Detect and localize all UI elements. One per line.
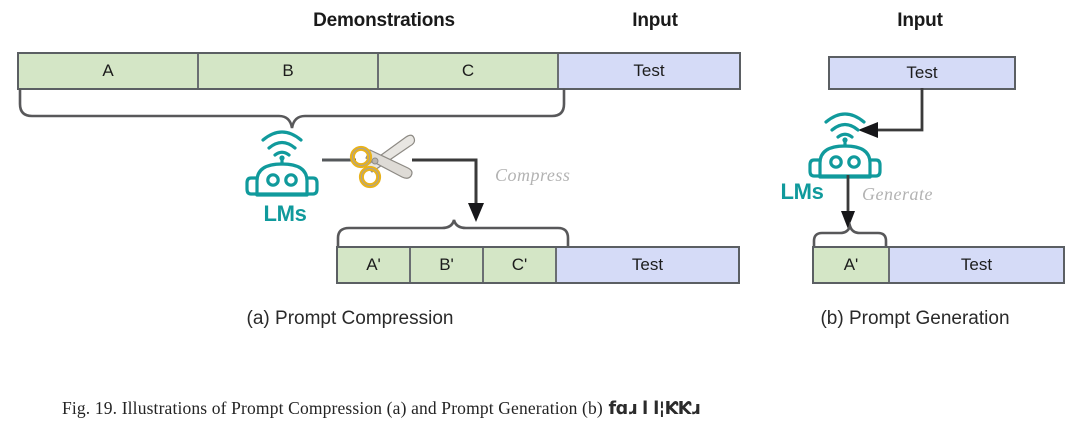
panel-a-output-cell-c: C' bbox=[484, 248, 557, 282]
panel-b-subcaption: (b) Prompt Generation bbox=[770, 308, 1060, 330]
panel-b-generate-arrow bbox=[838, 175, 858, 233]
panel-a-demo-cell-b: B bbox=[199, 54, 379, 88]
panel-a-output-sequence: A' B' C' Test bbox=[336, 246, 740, 284]
panel-a-subcaption: (a) Prompt Compression bbox=[180, 308, 520, 330]
panel-b-lms-label: LMs bbox=[770, 179, 834, 205]
panel-b-output-cell-a: A' bbox=[814, 248, 890, 282]
panel-a-output-cell-test: Test bbox=[557, 248, 738, 282]
figure-caption: Fig. 19. Illustrations of Prompt Compres… bbox=[62, 398, 1042, 419]
panel-b-input-header: Input bbox=[825, 10, 1015, 32]
panel-a-input-header: Input bbox=[570, 10, 740, 32]
panel-b-generate-label: Generate bbox=[862, 184, 933, 205]
panel-a-output-cell-a: A' bbox=[338, 248, 411, 282]
panel-b-input-sequence: Test bbox=[828, 56, 1016, 90]
figure-caption-main: Fig. 19. Illustrations of Prompt Compres… bbox=[62, 398, 603, 418]
panel-a-demonstrations-header: Demonstrations bbox=[184, 10, 584, 32]
robot-icon bbox=[806, 100, 884, 182]
figure-caption-tail: fɑɹ l l¦ƘƘɹ bbox=[603, 399, 700, 419]
panel-a-compress-label: Compress bbox=[495, 165, 570, 186]
panel-a-compress-arrow bbox=[412, 148, 492, 230]
panel-a-demo-cell-a: A bbox=[19, 54, 199, 88]
panel-a-input-sequence: A B C Test bbox=[17, 52, 741, 90]
panel-a-demo-cell-c: C bbox=[379, 54, 559, 88]
panel-b-output-cell-test: Test bbox=[890, 248, 1063, 282]
panel-a-lms-label: LMs bbox=[250, 201, 320, 227]
robot-icon bbox=[243, 118, 321, 200]
panel-b-output-sequence: A' Test bbox=[812, 246, 1065, 284]
panel-b-input-cell-test: Test bbox=[830, 58, 1014, 88]
panel-a-output-cell-b: B' bbox=[411, 248, 484, 282]
figure-root: Demonstrations Input A B C Test bbox=[0, 0, 1080, 437]
panel-a-input-cell-test: Test bbox=[559, 54, 739, 88]
